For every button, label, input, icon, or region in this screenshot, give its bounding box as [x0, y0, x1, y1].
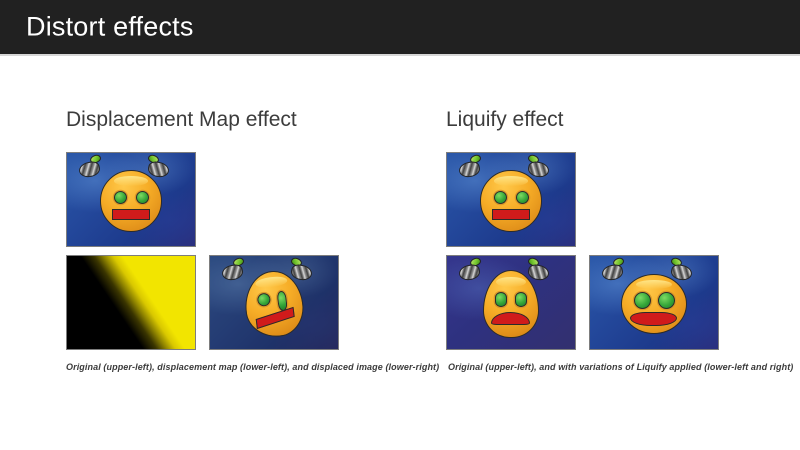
antenna-coil-icon	[527, 263, 551, 282]
antenna-right-icon	[526, 155, 552, 179]
face-head	[480, 170, 542, 232]
alien-face-icon	[67, 153, 195, 246]
antenna-coil-icon	[221, 263, 245, 282]
eye-right-icon	[136, 191, 149, 204]
thumbnail-displacement-map[interactable]	[66, 255, 196, 350]
thumbnail-liquify-variation-2[interactable]	[589, 255, 719, 350]
antenna-right-icon	[526, 258, 552, 282]
section-displacement-map: Displacement Map effect	[62, 108, 412, 152]
antenna-coil-icon	[290, 263, 314, 282]
eye-right-icon	[515, 292, 527, 307]
head-highlight	[114, 176, 148, 186]
alien-face-icon	[447, 153, 575, 246]
antenna-left-icon	[457, 258, 483, 282]
displacement-gradient	[67, 256, 195, 349]
antenna-right-icon	[669, 258, 695, 282]
thumbnail-displaced-face[interactable]	[209, 255, 339, 350]
head-highlight	[636, 280, 672, 289]
section-liquify: Liquify effect	[442, 108, 782, 152]
antenna-coil-icon	[147, 160, 171, 179]
antenna-left-icon	[220, 258, 246, 282]
alien-face-distorted-icon	[210, 256, 338, 349]
caption-displacement-map: Original (upper-left), displacement map …	[66, 362, 439, 372]
thumbnail-liquify-variation-1[interactable]	[446, 255, 576, 350]
mouth-icon	[491, 312, 530, 325]
antenna-left-icon	[77, 155, 103, 179]
eye-left-icon	[494, 191, 507, 204]
section-heading-displacement-map: Displacement Map effect	[66, 108, 412, 132]
thumbnail-original-face[interactable]	[66, 152, 196, 247]
eye-left-icon	[495, 292, 507, 307]
mouth-icon	[630, 312, 677, 326]
antenna-coil-icon	[458, 160, 482, 179]
head-highlight	[494, 176, 528, 186]
antenna-coil-icon	[458, 263, 482, 282]
section-heading-liquify: Liquify effect	[446, 108, 782, 132]
eye-right-icon	[658, 292, 675, 309]
antenna-right-icon	[289, 258, 315, 282]
page-title: Distort effects	[26, 12, 194, 43]
mouth-icon	[112, 209, 150, 220]
antenna-right-icon	[146, 155, 172, 179]
thumbnail-original-face[interactable]	[446, 152, 576, 247]
antenna-coil-icon	[527, 160, 551, 179]
antenna-coil-icon	[78, 160, 102, 179]
eye-left-icon	[256, 293, 272, 309]
alien-face-liquified-icon	[590, 256, 718, 349]
title-divider	[0, 54, 800, 56]
caption-liquify: Original (upper-left), and with variatio…	[448, 362, 793, 372]
head-highlight	[496, 277, 526, 288]
face-head	[621, 274, 687, 334]
mouth-icon	[256, 307, 295, 329]
antenna-left-icon	[457, 155, 483, 179]
antenna-coil-icon	[670, 263, 694, 282]
alien-face-liquified-icon	[447, 256, 575, 349]
head-highlight	[255, 276, 287, 290]
eye-left-icon	[634, 292, 651, 309]
slide-title-bar: Distort effects	[0, 0, 800, 54]
antenna-left-icon	[600, 258, 626, 282]
antenna-coil-icon	[601, 263, 625, 282]
face-head	[100, 170, 162, 232]
mouth-icon	[492, 209, 530, 220]
eye-left-icon	[114, 191, 127, 204]
eye-right-icon	[516, 191, 529, 204]
